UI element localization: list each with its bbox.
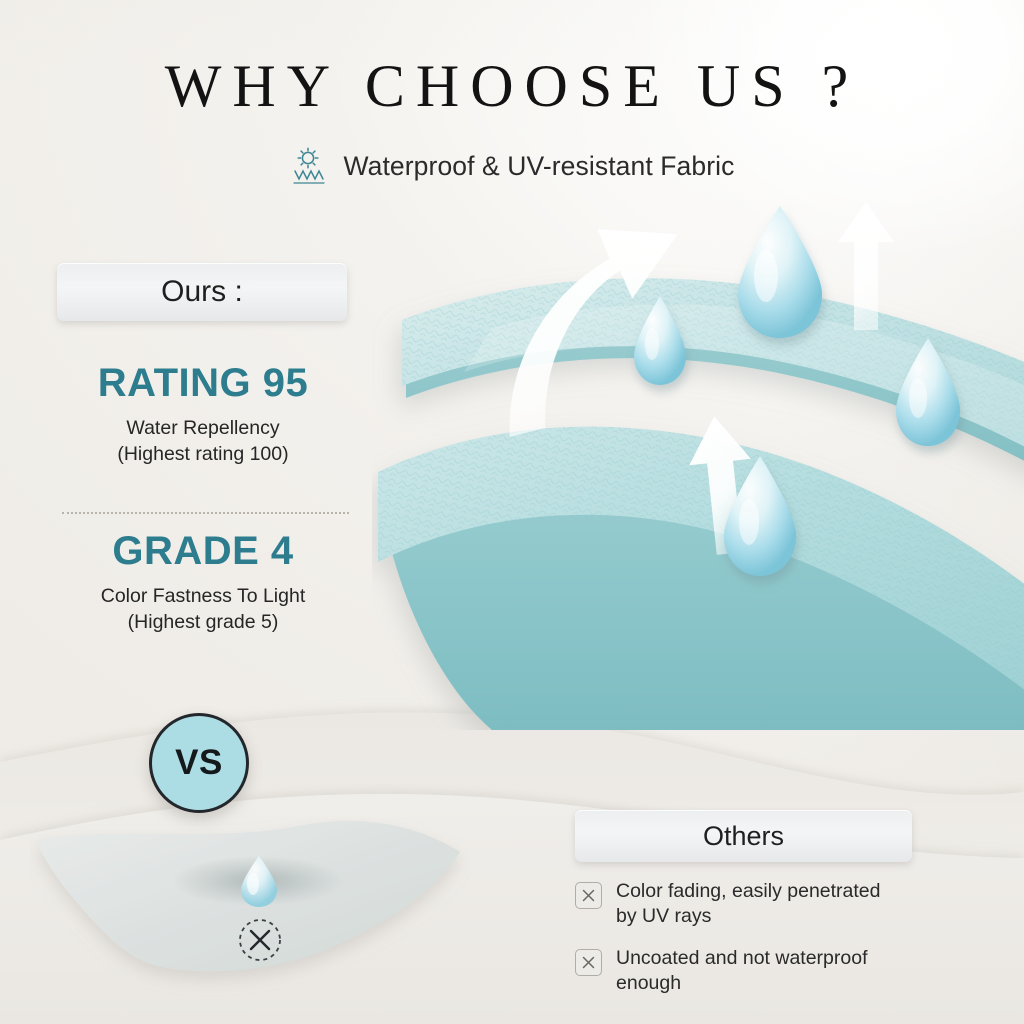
x-mark-icon: [575, 882, 602, 909]
others-banner: Others: [575, 810, 912, 862]
list-item-line2: enough: [616, 972, 681, 994]
infographic-canvas: WHY CHOOSE US ? Waterproof & UV-resistan…: [0, 0, 1024, 1024]
sun-over-water-icon: [289, 145, 329, 187]
stat-headline: RATING 95: [48, 362, 358, 404]
list-item-line2: by UV rays: [616, 905, 711, 927]
list-item-line1: Uncoated and not waterproof: [616, 947, 868, 969]
stat-headline: GRADE 4: [48, 530, 358, 572]
stat-caption-line2: (Highest rating 100): [48, 442, 358, 468]
stat-caption: Color Fastness To Light (Highest grade 5…: [48, 584, 358, 636]
stat-caption-line1: Water Repellency: [48, 416, 358, 442]
page-title: WHY CHOOSE US ?: [0, 52, 1024, 121]
stat-caption-line2: (Highest grade 5): [48, 610, 358, 636]
x-mark-icon: [575, 949, 602, 976]
ours-banner: Ours :: [57, 263, 347, 321]
stat-caption: Water Repellency (Highest rating 100): [48, 416, 358, 468]
subtitle-text: Waterproof & UV-resistant Fabric: [343, 151, 734, 182]
list-item-line1: Color fading, easily penetrated: [616, 880, 881, 902]
list-item-text: Uncoated and not waterproof enough: [616, 946, 868, 995]
stat-caption-line1: Color Fastness To Light: [48, 584, 358, 610]
list-item-text: Color fading, easily penetrated by UV ra…: [616, 879, 881, 928]
stat-block-rating: RATING 95 Water Repellency (Highest rati…: [48, 362, 358, 468]
others-list: Color fading, easily penetrated by UV ra…: [575, 879, 995, 1013]
vs-label: VS: [175, 743, 223, 783]
subtitle-row: Waterproof & UV-resistant Fabric: [0, 145, 1024, 187]
ours-banner-label: Ours :: [161, 275, 243, 309]
others-banner-label: Others: [703, 821, 784, 852]
stat-divider: [62, 512, 349, 516]
stat-block-grade: GRADE 4 Color Fastness To Light (Highest…: [48, 530, 358, 636]
list-item: Color fading, easily penetrated by UV ra…: [575, 879, 995, 928]
vs-badge: VS: [149, 713, 249, 813]
list-item: Uncoated and not waterproof enough: [575, 946, 995, 995]
